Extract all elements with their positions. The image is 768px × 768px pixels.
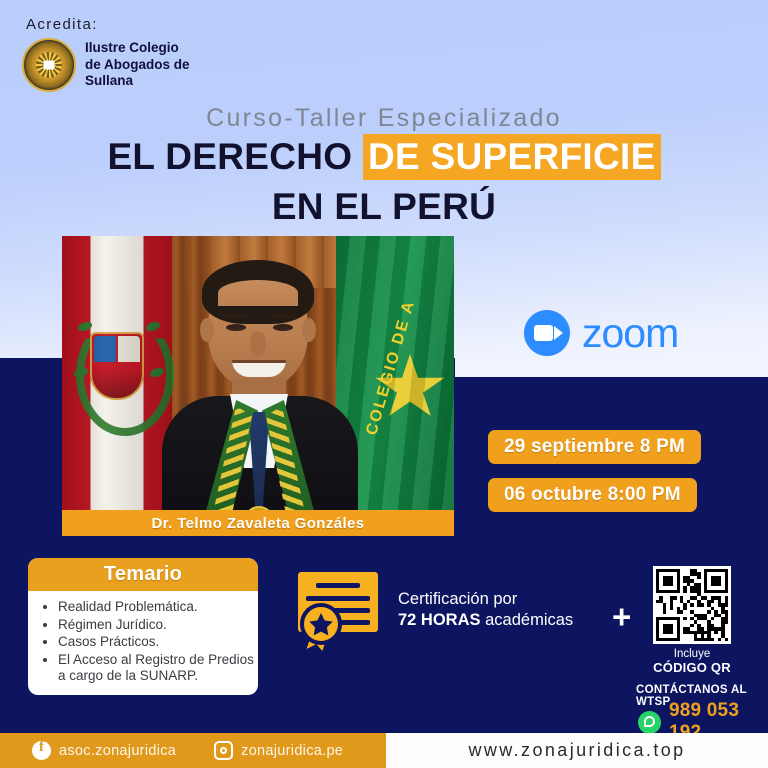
zoom-platform-logo: zoom <box>524 310 678 356</box>
list-item: Régimen Jurídico. <box>58 617 258 634</box>
org-line-1: Ilustre Colegio <box>85 40 190 57</box>
facebook-icon <box>32 741 51 760</box>
zoom-wordmark: zoom <box>582 313 678 354</box>
footer-website-bar: www.zonajuridica.top <box>386 733 768 768</box>
speaker-portrait <box>166 266 352 534</box>
navy-notch <box>455 358 768 377</box>
portrait-nose <box>250 332 266 356</box>
date-badge-1: 29 septiembre 8 PM <box>488 430 701 464</box>
certification-line-1: Certificación por <box>398 589 573 610</box>
instagram-link[interactable]: zonajuridica.pe <box>214 741 343 760</box>
event-kicker: Curso-Taller Especializado <box>0 104 768 133</box>
qr-code-matrix <box>656 569 728 641</box>
qr-caption-2: CÓDIGO QR <box>650 660 734 675</box>
plus-separator-icon: + <box>612 600 631 633</box>
instagram-icon <box>214 741 233 760</box>
certification-line-2: 72 HORAS académicas <box>398 610 573 631</box>
org-line-3: Sullana <box>85 73 190 90</box>
list-item: El Acceso al Registro de Predios a cargo… <box>58 652 258 685</box>
event-title-line-2: EN EL PERÚ <box>0 186 768 228</box>
temario-list: Realidad Problemática. Régimen Jurídico.… <box>28 599 258 685</box>
footer-social-bar: asoc.zonajuridica zonajuridica.pe <box>0 733 386 768</box>
title-plain-part: EL DERECHO <box>107 136 363 177</box>
instagram-handle: zonajuridica.pe <box>241 743 343 759</box>
temario-card: Temario Realidad Problemática. Régimen J… <box>28 558 258 695</box>
facebook-handle: asoc.zonajuridica <box>59 743 176 759</box>
speaker-name: Dr. Telmo Zavaleta Gonzáles <box>151 515 364 532</box>
org-line-2: de Abogados de <box>85 57 190 74</box>
qr-caption-1: Incluye <box>650 648 734 660</box>
colegio-abogados-seal-icon <box>22 38 76 92</box>
organization-name: Ilustre Colegio de Abogados de Sullana <box>85 38 190 90</box>
flyer-canvas: Acredita: Ilustre Colegio de Abogados de… <box>0 0 768 768</box>
zoom-camera-glyph <box>534 325 553 341</box>
speaker-photo: COLEGIO DE A <box>62 236 454 534</box>
event-title-line-1: EL DERECHO DE SUPERFICIE <box>0 136 768 178</box>
portrait-brow-left <box>222 314 248 319</box>
certification-block: Certificación por 72 HORAS académicas <box>292 566 573 654</box>
portrait-ear-right <box>302 318 316 342</box>
portrait-eye-right <box>273 324 293 331</box>
zoom-camera-icon <box>524 310 570 356</box>
accrediting-organization: Ilustre Colegio de Abogados de Sullana <box>22 38 190 92</box>
facebook-link[interactable]: asoc.zonajuridica <box>32 741 176 760</box>
title-highlight-part: DE SUPERFICIE <box>363 134 661 180</box>
whatsapp-icon <box>638 711 661 734</box>
temario-heading: Temario <box>104 563 182 586</box>
portrait-brow-right <box>270 314 296 319</box>
certification-hours-suffix: académicas <box>481 611 574 629</box>
certificate-icon <box>292 566 384 654</box>
qr-code-icon[interactable] <box>653 566 731 644</box>
list-item: Casos Prácticos. <box>58 634 258 651</box>
certification-text: Certificación por 72 HORAS académicas <box>398 589 573 631</box>
certification-hours: 72 HORAS <box>398 611 481 629</box>
date-badge-1-label: 29 septiembre 8 PM <box>504 436 685 458</box>
acredita-label: Acredita: <box>26 16 98 33</box>
portrait-ear-left <box>200 318 214 342</box>
speaker-name-bar: Dr. Telmo Zavaleta Gonzáles <box>62 510 454 536</box>
portrait-mouth <box>232 360 286 377</box>
portrait-eye-left <box>226 324 246 331</box>
temario-header: Temario <box>28 558 258 591</box>
qr-block: Incluye CÓDIGO QR <box>650 566 734 675</box>
peru-flag-shading <box>62 236 172 534</box>
portrait-hair <box>202 260 314 324</box>
website-url[interactable]: www.zonajuridica.top <box>468 740 685 761</box>
list-item: Realidad Problemática. <box>58 599 258 616</box>
date-badge-2: 06 octubre 8:00 PM <box>488 478 697 512</box>
date-badge-2-label: 06 octubre 8:00 PM <box>504 484 681 506</box>
